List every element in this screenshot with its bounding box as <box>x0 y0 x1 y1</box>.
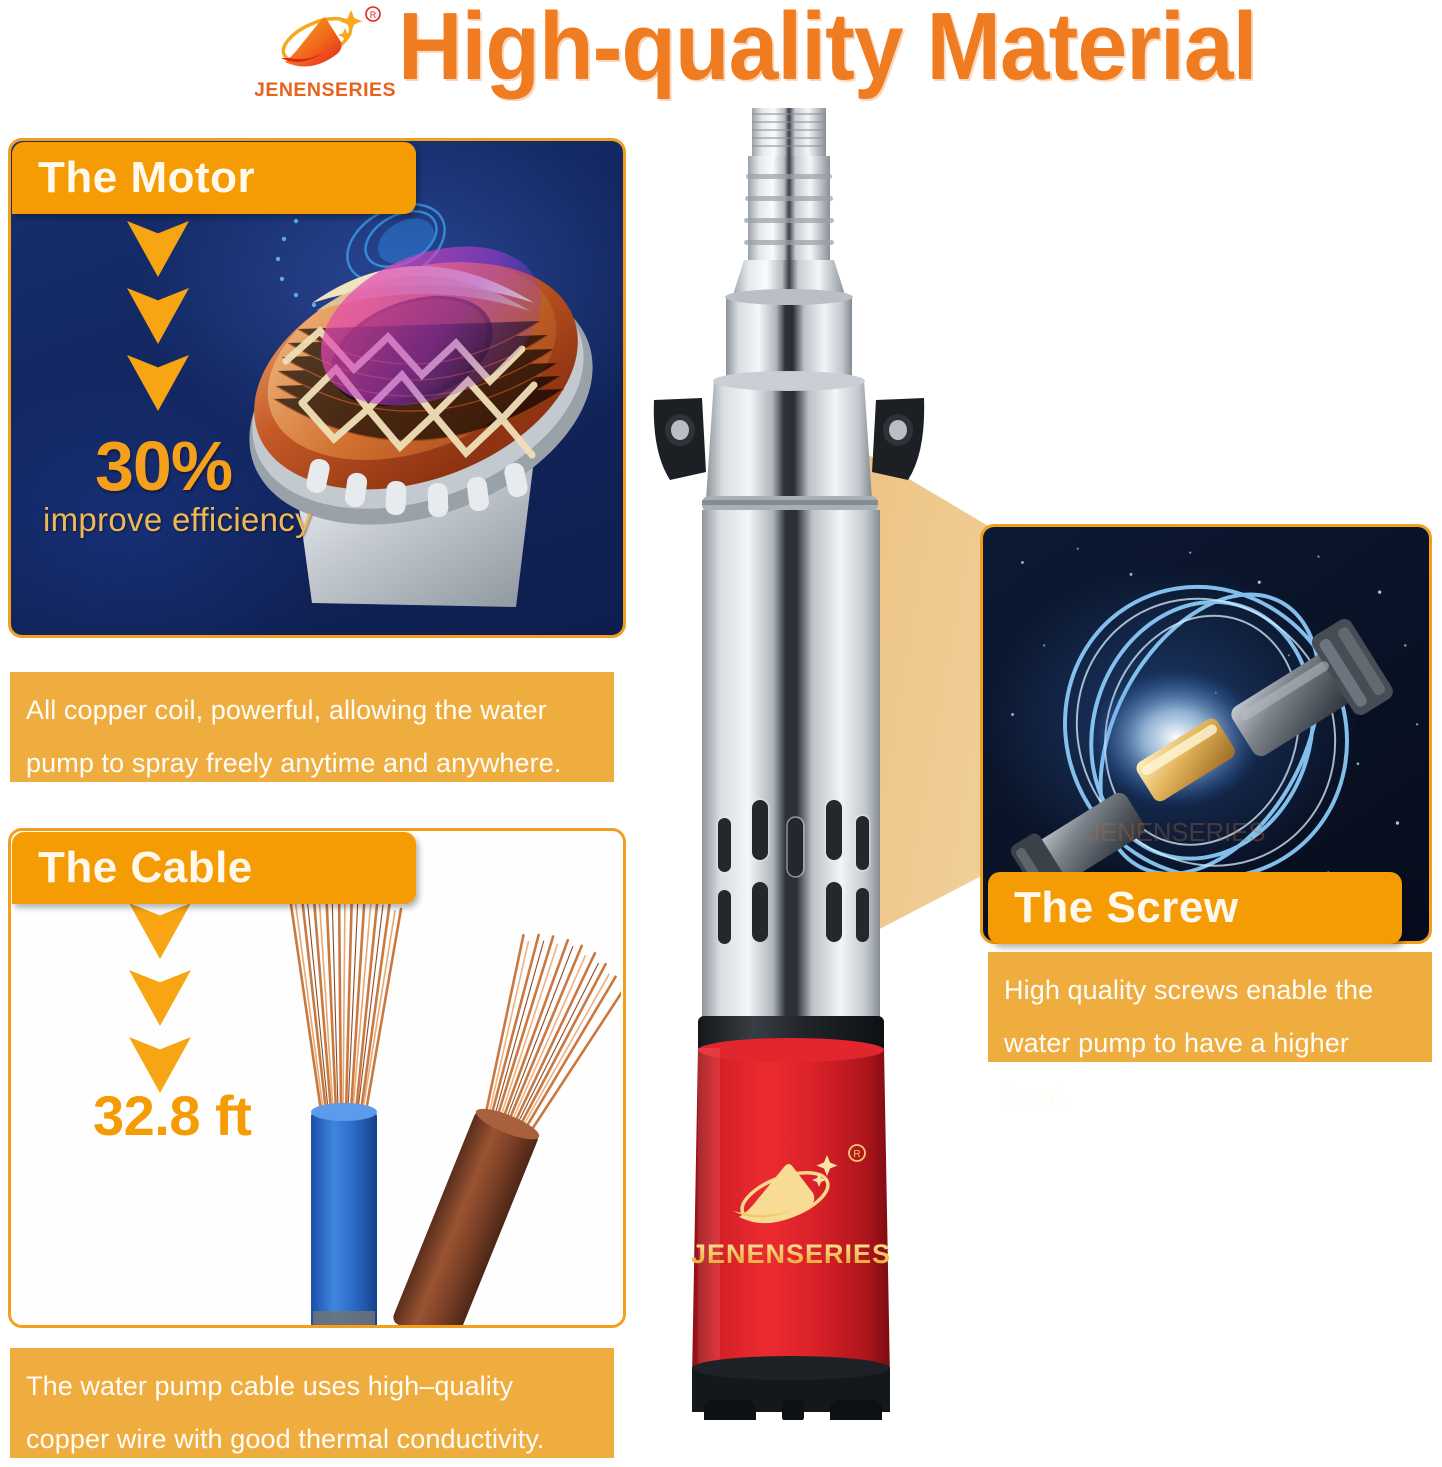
page-title: High-quality Material <box>398 0 1256 100</box>
chevron-down-icon <box>127 221 189 277</box>
chevron-down-icon <box>127 288 189 344</box>
tab-the-screw[interactable]: The Screw <box>988 872 1402 944</box>
motor-stat-value: 30% <box>95 426 232 506</box>
pump-stainless-barrel <box>702 510 880 1020</box>
tab-the-cable-label: The Cable <box>38 843 253 893</box>
tab-the-cable[interactable]: The Cable <box>12 832 416 904</box>
infographic-root: R JENENSERIES High-quality Material <box>0 0 1442 1467</box>
brand-logo: R JENENSERIES <box>255 2 395 102</box>
pump-red-housing: R JENENSERIES <box>691 1038 891 1378</box>
housing-brand-wordmark: JENENSERIES <box>691 1239 891 1269</box>
blue-wire <box>289 887 401 1328</box>
motor-stat-caption: improve efficiency <box>43 501 312 539</box>
pump-upper-shell <box>706 380 872 500</box>
cable-stat-value: 32.8 ft <box>93 1083 251 1148</box>
pump-base <box>692 1356 890 1420</box>
pump-mounting-lug-right <box>872 398 924 480</box>
caption-motor: All copper coil, powerful, allowing the … <box>10 672 614 782</box>
pump-hose-barb <box>744 156 834 260</box>
watermark-text: JENENSERIES <box>1087 819 1265 847</box>
tab-the-motor-label: The Motor <box>38 153 255 203</box>
chevron-down-icon <box>129 970 191 1026</box>
caption-cable: The water pump cable uses high–quality c… <box>10 1348 614 1458</box>
motor-arrow-group <box>127 221 189 422</box>
cable-arrow-group <box>129 903 191 1104</box>
pump-threaded-outlet <box>752 108 826 156</box>
caption-motor-text: All copper coil, powerful, allowing the … <box>26 695 561 778</box>
chevron-down-icon <box>127 355 189 411</box>
brown-wire <box>371 924 621 1328</box>
caption-screw-text: High quality screws enable the water pum… <box>1004 975 1373 1111</box>
motor-stator-image <box>216 171 626 611</box>
tab-the-screw-label: The Screw <box>1014 883 1239 933</box>
pump-mounting-lug-left <box>654 398 706 480</box>
svg-text:R: R <box>853 1149 860 1160</box>
tab-the-motor[interactable]: The Motor <box>12 142 416 214</box>
svg-text:R: R <box>370 10 377 20</box>
caption-cable-text: The water pump cable uses high–quality c… <box>26 1371 545 1454</box>
page-header: R JENENSERIES High-quality Material <box>0 0 1442 108</box>
caption-screw: High quality screws enable the water pum… <box>988 952 1432 1062</box>
brand-wordmark: JENENSERIES <box>255 79 395 101</box>
product-pump-image: R JENENSERIES <box>640 100 970 1420</box>
pump-collar <box>726 296 852 380</box>
chevron-down-icon <box>129 903 191 959</box>
